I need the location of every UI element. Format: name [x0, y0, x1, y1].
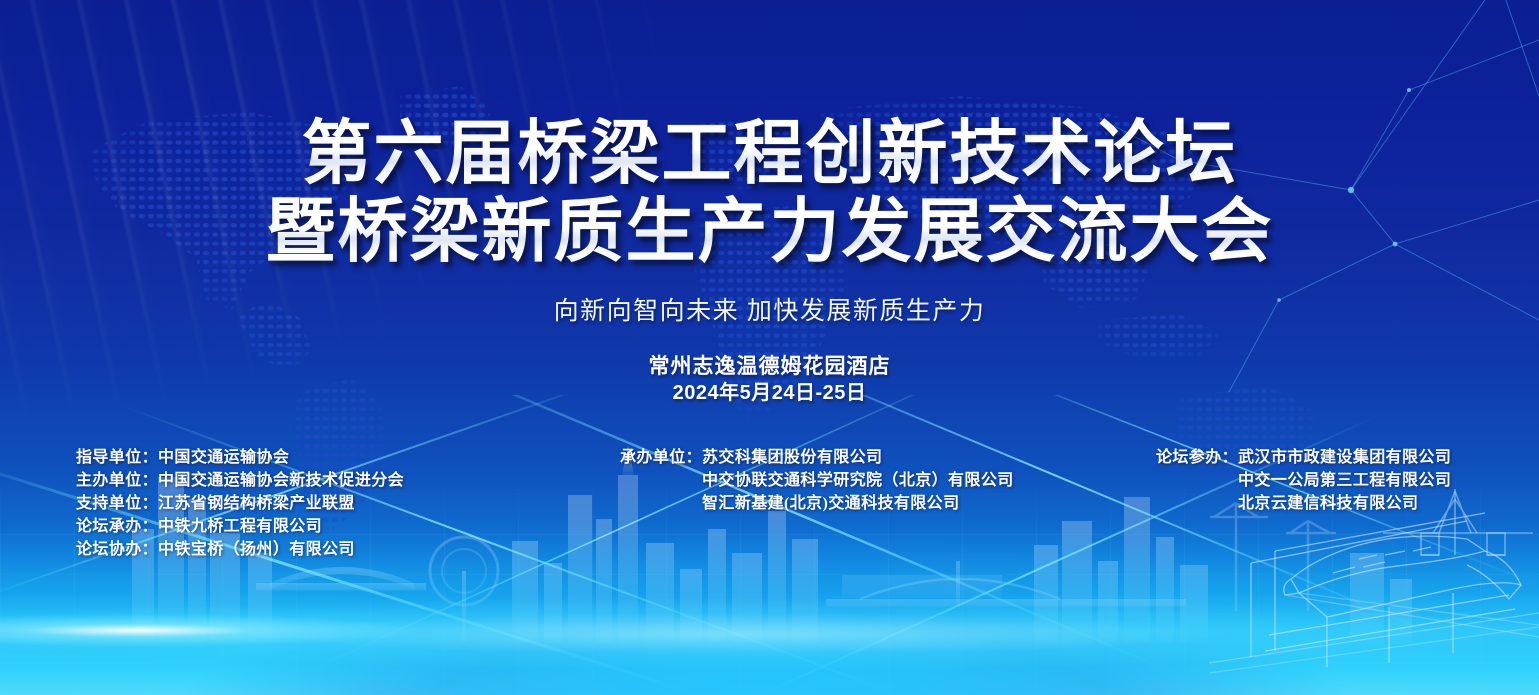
organizer-label: 指导单位：: [76, 446, 158, 469]
venue-name: 常州志逸温德姆花园酒店: [0, 352, 1539, 380]
organizer-column-left: 指导单位： 中国交通运输协会 主办单位： 中国交通运输协会新技术促进分会 支持单…: [76, 446, 404, 561]
organizer-label: 论坛承办：: [76, 515, 158, 538]
organizer-value: 智汇新基建(北京)交通科技有限公司: [702, 492, 959, 515]
organizer-value: 北京云建信科技有限公司: [1238, 492, 1418, 515]
organizer-columns: 指导单位： 中国交通运输协会 主办单位： 中国交通运输协会新技术促进分会 支持单…: [0, 440, 1539, 570]
organizer-value: 江苏省钢结构桥梁产业联盟: [158, 492, 355, 515]
organizer-value: 中交协联交通科学研究院（北京）有限公司: [702, 469, 1014, 492]
banner-title: 第六届桥梁工程创新技术论坛 暨桥梁新质生产力发展交流大会: [0, 116, 1539, 272]
venue-block: 常州志逸温德姆花园酒店 2024年5月24日-25日: [0, 352, 1539, 407]
organizer-row: 承办单位： 智汇新基建(北京)交通科技有限公司: [620, 492, 1014, 515]
organizer-label: 论坛参办：: [1156, 446, 1238, 469]
organizer-value: 中国交通运输协会: [158, 446, 289, 469]
organizer-value: 武汉市市政建设集团有限公司: [1238, 446, 1451, 469]
organizer-row: 论坛参办： 武汉市市政建设集团有限公司: [1156, 446, 1451, 469]
organizer-row: 论坛参办： 中交一公局第三工程有限公司: [1156, 469, 1451, 492]
organizer-row: 论坛承办： 中铁九桥工程有限公司: [76, 515, 404, 538]
organizer-label: 主办单位：: [76, 469, 158, 492]
organizer-value: 中铁宝桥（扬州）有限公司: [158, 538, 355, 561]
organizer-value: 中交一公局第三工程有限公司: [1238, 469, 1451, 492]
organizer-row: 指导单位： 中国交通运输协会: [76, 446, 404, 469]
organizer-label: 支持单位：: [76, 492, 158, 515]
organizer-value: 中铁九桥工程有限公司: [158, 515, 322, 538]
organizer-column-right: 论坛参办： 武汉市市政建设集团有限公司 论坛参办： 中交一公局第三工程有限公司 …: [1156, 446, 1451, 515]
organizer-row: 主办单位： 中国交通运输协会新技术促进分会: [76, 469, 404, 492]
organizer-value: 中国交通运输协会新技术促进分会: [158, 469, 404, 492]
organizer-row: 论坛参办： 北京云建信科技有限公司: [1156, 492, 1451, 515]
event-date: 2024年5月24日-25日: [0, 380, 1539, 407]
organizer-row: 承办单位： 苏交科集团股份有限公司: [620, 446, 1014, 469]
banner-content: 第六届桥梁工程创新技术论坛 暨桥梁新质生产力发展交流大会 向新向智向未来 加快发…: [0, 0, 1539, 695]
organizer-value: 苏交科集团股份有限公司: [702, 446, 882, 469]
title-line-1: 第六届桥梁工程创新技术论坛: [0, 116, 1539, 194]
organizer-row: 论坛协办： 中铁宝桥（扬州）有限公司: [76, 538, 404, 561]
title-line-2: 暨桥梁新质生产力发展交流大会: [0, 194, 1539, 272]
organizer-column-middle: 承办单位： 苏交科集团股份有限公司 承办单位： 中交协联交通科学研究院（北京）有…: [620, 446, 1014, 515]
organizer-label: 承办单位：: [620, 446, 702, 469]
organizer-row: 支持单位： 江苏省钢结构桥梁产业联盟: [76, 492, 404, 515]
organizer-row: 承办单位： 中交协联交通科学研究院（北京）有限公司: [620, 469, 1014, 492]
organizer-label: 论坛协办：: [76, 538, 158, 561]
conference-banner: 第六届桥梁工程创新技术论坛 暨桥梁新质生产力发展交流大会 向新向智向未来 加快发…: [0, 0, 1539, 695]
banner-slogan: 向新向智向未来 加快发展新质生产力: [0, 296, 1539, 328]
